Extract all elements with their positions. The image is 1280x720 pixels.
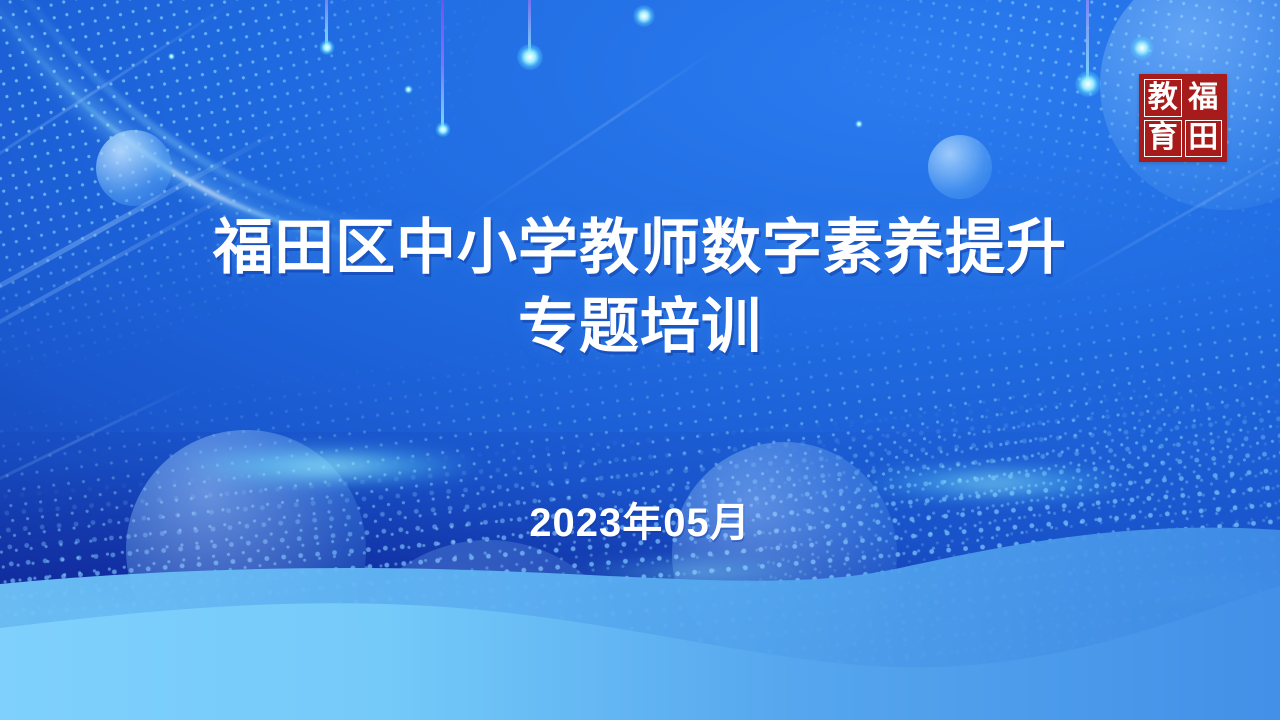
spark-glow-4 [855,120,863,128]
seal-char-top-left: 教 [1144,79,1182,117]
presentation-title-slide: 教 福 育 田 福田区中小学教师数字素养提升 专题培训 2023年05月 [0,0,1280,720]
spark-glow-5 [168,53,175,60]
slide-title-block: 福田区中小学教师数字素养提升 专题培训 [0,208,1280,366]
seal-char-top-right: 福 [1185,79,1223,117]
spark-glow-2 [1130,36,1154,60]
seal-char-bottom-left: 育 [1144,120,1182,158]
spark-glow-3 [404,85,413,94]
futian-education-seal-logo: 教 福 育 田 [1139,74,1227,162]
slide-date: 2023年05月 [0,490,1280,548]
decor-sphere-small-center [928,135,992,199]
falling-light-trail-1 [325,0,328,48]
seal-char-bottom-right: 田 [1185,120,1223,158]
falling-light-trail-4 [1086,0,1089,85]
falling-light-trail-3 [528,0,531,58]
falling-light-trail-2 [441,0,444,130]
spark-glow-1 [633,5,655,27]
slide-title-line-2: 专题培训 [0,287,1280,366]
slide-title-line-1: 福田区中小学教师数字素养提升 [0,208,1280,287]
